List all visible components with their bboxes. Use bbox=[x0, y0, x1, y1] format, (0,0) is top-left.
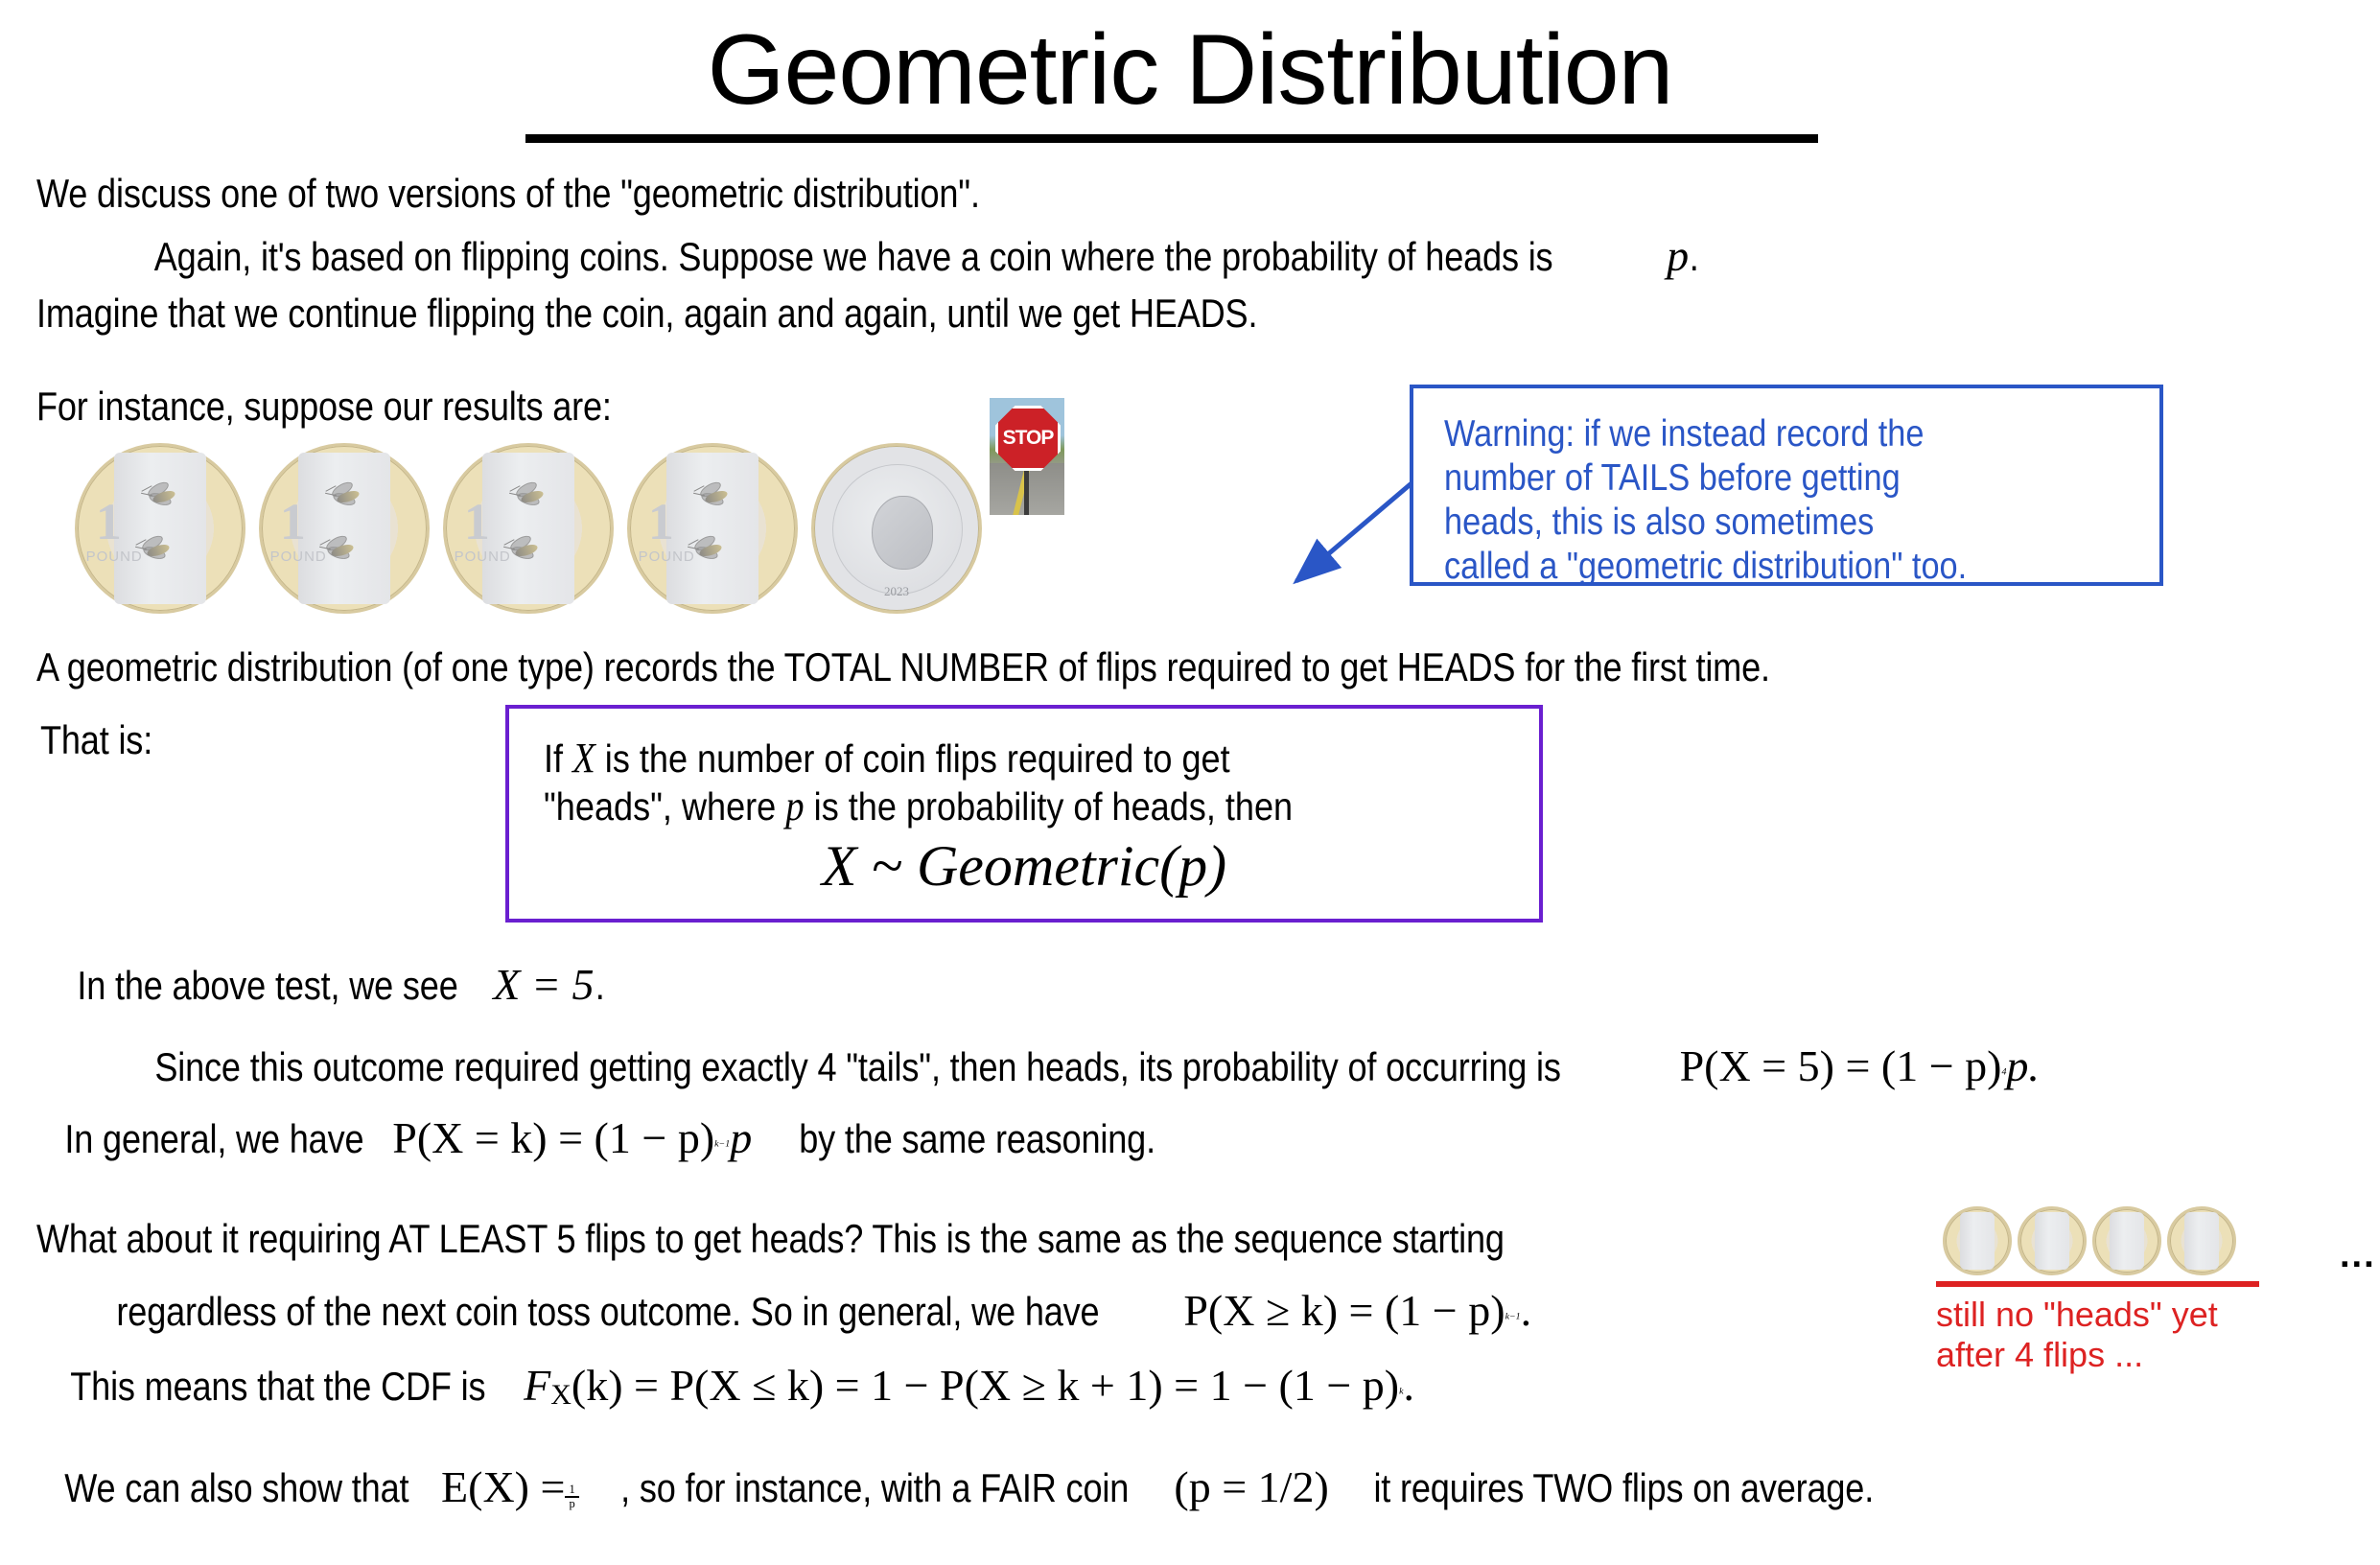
cdf-math-subscript: X bbox=[550, 1379, 572, 1411]
definition-line-2-a: "heads", where bbox=[544, 784, 776, 829]
red-note-line-1: still no "heads" yet bbox=[1936, 1295, 2218, 1335]
cdf-math-rhs: . bbox=[1404, 1361, 1415, 1410]
result-line-above-test: In the above test, we see X = 5. bbox=[46, 959, 605, 1010]
small-coin-3-tails bbox=[2092, 1206, 2161, 1275]
warning-line-4: called a "geometric distribution" too. bbox=[1444, 546, 1967, 588]
red-underline bbox=[1936, 1281, 2259, 1287]
bee-icon bbox=[133, 538, 177, 563]
at-least-line-2-math-rhs: . bbox=[1521, 1286, 1532, 1335]
expectation-fraction: 1p bbox=[565, 1483, 578, 1509]
cdf-text: This means that the CDF is bbox=[70, 1364, 485, 1410]
cdf-math-F: F bbox=[524, 1361, 550, 1410]
coin-inner-panel bbox=[2184, 1212, 2220, 1271]
general-text-tail: by the same reasoning. bbox=[799, 1116, 1155, 1162]
coin-flip-5-heads: 2023 bbox=[811, 443, 982, 614]
red-note-line-2: after 4 flips ... bbox=[1936, 1335, 2143, 1375]
at-least-line-2: regardless of the next coin toss outcome… bbox=[36, 1285, 1531, 1336]
definition-formula: X ~ Geometric(p) bbox=[509, 833, 1539, 899]
coin-flip-3-tails: 1 POUND bbox=[443, 443, 614, 614]
result-line-since: Since this outcome required getting exac… bbox=[40, 1040, 2040, 1091]
coin-year: 2023 bbox=[884, 584, 909, 599]
definition-line-1: If X is the number of coin flips require… bbox=[544, 734, 1230, 782]
definition-line-2: "heads", where p is the probability of h… bbox=[544, 782, 1293, 830]
bee-icon bbox=[317, 538, 362, 563]
coin-flip-1-tails: 1 POUND bbox=[75, 443, 245, 614]
cdf-line: This means that the CDF is FX(k) = P(X ≤… bbox=[36, 1360, 1414, 1412]
intro-line-2: Again, it's based on flipping coins. Sup… bbox=[40, 230, 1700, 281]
general-text: In general, we have bbox=[64, 1116, 363, 1162]
coin-inner-panel bbox=[2110, 1212, 2145, 1271]
expectation-text: We can also show that bbox=[64, 1465, 408, 1511]
coin-numeral: 1 bbox=[648, 492, 674, 551]
since-math-rhs: p. bbox=[2006, 1041, 2040, 1090]
above-test-text: In the above test, we see bbox=[77, 963, 457, 1009]
definition-line-1-a: If bbox=[544, 736, 563, 781]
above-test-period: . bbox=[595, 963, 604, 1009]
intro-line-2-text: Again, it's based on flipping coins. Sup… bbox=[154, 234, 1553, 280]
coin-numeral: 1 bbox=[464, 492, 490, 551]
stop-sign-label: STOP bbox=[1003, 427, 1054, 450]
bee-icon bbox=[502, 538, 546, 563]
coin-inner-panel bbox=[2035, 1212, 2070, 1271]
result-line-general: In general, we have P(X = k) = (1 − p)k−… bbox=[40, 1112, 1184, 1163]
intro-line-2-math: p bbox=[1667, 231, 1689, 280]
expectation-math-E: E(X) = bbox=[441, 1462, 565, 1511]
stop-sign-photo: STOP bbox=[990, 398, 1064, 515]
bee-icon bbox=[139, 484, 183, 509]
coin-inner-panel bbox=[1960, 1212, 1995, 1271]
definition-intro-line: A geometric distribution (of one type) r… bbox=[36, 644, 1770, 690]
since-math-lhs: P(X = 5) = (1 − p) bbox=[1680, 1041, 2002, 1090]
definition-line-2-math: p bbox=[785, 782, 804, 829]
coin-inner-panel bbox=[666, 453, 758, 604]
intro-line-3: Imagine that we continue flipping the co… bbox=[36, 291, 1257, 337]
bee-icon bbox=[507, 484, 551, 509]
small-coin-2-tails bbox=[2018, 1206, 2087, 1275]
coin-row-ellipsis: ... bbox=[2340, 1235, 2376, 1276]
page-title: Geometric Distribution bbox=[0, 13, 2380, 128]
expectation-text-mid: , so for instance, with a FAIR coin bbox=[620, 1465, 1129, 1511]
warning-callout-box: Warning: if we instead record the number… bbox=[1410, 385, 2163, 586]
general-math-exponent: k−1 bbox=[714, 1139, 730, 1150]
intro-line-2-period: . bbox=[1690, 234, 1699, 280]
that-is-label: That is: bbox=[40, 717, 152, 763]
intro-line-1: We discuss one of two versions of the "g… bbox=[36, 171, 980, 217]
expectation-line: We can also show that E(X) =1p, so for i… bbox=[36, 1461, 1915, 1512]
coin-portrait-ring bbox=[832, 464, 963, 595]
expectation-text-tail: it requires TWO flips on average. bbox=[1374, 1465, 1875, 1511]
bee-icon bbox=[323, 484, 367, 509]
above-test-math: X = 5 bbox=[493, 960, 594, 1009]
coin-inner-panel bbox=[114, 453, 206, 604]
cdf-math-mid: (k) = P(X ≤ k) = 1 − P(X ≥ k + 1) = 1 − … bbox=[572, 1361, 1399, 1410]
since-text: Since this outcome required getting exac… bbox=[154, 1044, 1560, 1090]
definition-line-2-b: is the probability of heads, then bbox=[814, 784, 1293, 829]
definition-line-1-math: X bbox=[572, 735, 595, 782]
small-coin-1-tails bbox=[1943, 1206, 2012, 1275]
definition-line-1-b: is the number of coin flips required to … bbox=[605, 736, 1230, 781]
warning-line-1: Warning: if we instead record the bbox=[1444, 413, 1924, 455]
definition-box: If X is the number of coin flips require… bbox=[505, 705, 1543, 923]
at-least-line-1: What about it requiring AT LEAST 5 flips… bbox=[36, 1216, 1505, 1262]
at-least-line-2-exponent: k−1 bbox=[1505, 1312, 1521, 1322]
at-least-line-2-text: regardless of the next coin toss outcome… bbox=[116, 1289, 1099, 1335]
monarch-portrait-icon bbox=[872, 496, 933, 570]
expectation-math-fair: (p = 1/2) bbox=[1174, 1462, 1328, 1511]
general-math-lhs: P(X = k) = (1 − p) bbox=[392, 1113, 714, 1162]
slide-root: Geometric Distribution We discuss one of… bbox=[0, 0, 2380, 1565]
small-coin-4-tails bbox=[2167, 1206, 2236, 1275]
bee-icon bbox=[686, 538, 730, 563]
coin-inner-panel bbox=[482, 453, 574, 604]
at-least-line-2-math-lhs: P(X ≥ k) = (1 − p) bbox=[1183, 1286, 1505, 1335]
warning-line-2: number of TAILS before getting bbox=[1444, 457, 1901, 500]
intro-line-4: For instance, suppose our results are: bbox=[36, 384, 612, 430]
coin-flip-4-tails: 1 POUND bbox=[627, 443, 798, 614]
coin-inner-panel bbox=[298, 453, 390, 604]
fraction-numerator: 1 bbox=[565, 1483, 578, 1495]
coin-flip-2-tails: 1 POUND bbox=[259, 443, 430, 614]
general-math-rhs: p bbox=[730, 1113, 752, 1162]
coin-numeral: 1 bbox=[280, 492, 306, 551]
title-underline bbox=[525, 134, 1818, 143]
fraction-denominator: p bbox=[565, 1496, 578, 1509]
bee-icon bbox=[691, 484, 735, 509]
coin-numeral: 1 bbox=[96, 492, 122, 551]
warning-line-3: heads, this is also sometimes bbox=[1444, 502, 1874, 544]
stop-sign-icon: STOP bbox=[995, 406, 1061, 471]
